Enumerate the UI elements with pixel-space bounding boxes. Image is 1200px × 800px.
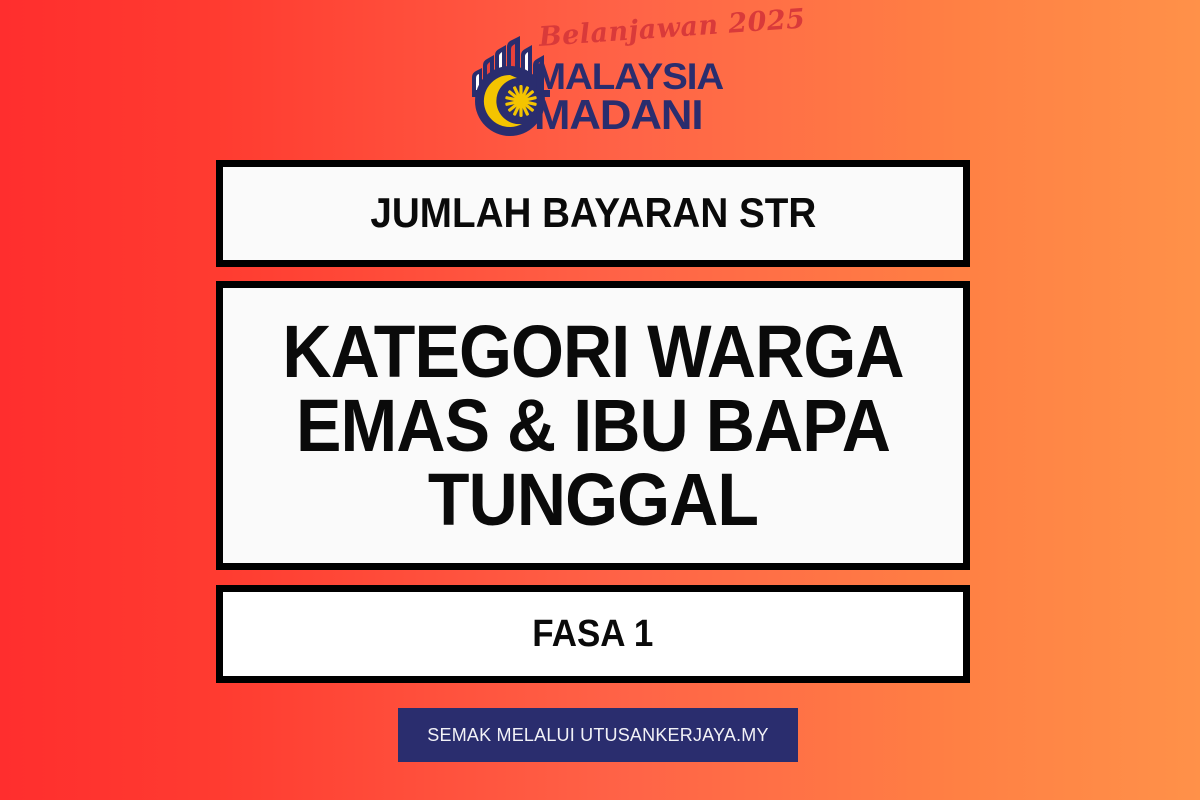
category-label: KATEGORI WARGA EMAS & IBU BAPA TUNGGAL xyxy=(253,315,934,537)
total-payment-box: JUMLAH BAYARAN STR xyxy=(216,160,970,267)
check-source-banner[interactable]: SEMAK MELALUI UTUSANKERJAYA.MY xyxy=(398,708,798,762)
logo-wordmark: Belanjawan 2025 MALAYSIA MADANI xyxy=(534,20,746,140)
phase-box: FASA 1 xyxy=(216,585,970,683)
poster-canvas: Belanjawan 2025 MALAYSIA MADANI JUMLAH B… xyxy=(0,0,1200,800)
brand-malaysia: MALAYSIA xyxy=(534,58,723,95)
malaysia-madani-logo: Belanjawan 2025 MALAYSIA MADANI xyxy=(466,20,746,140)
phase-label: FASA 1 xyxy=(520,615,667,654)
brand-madani: MADANI xyxy=(534,94,702,136)
budget-year-script: Belanjawan 2025 xyxy=(538,3,807,53)
total-payment-label: JUMLAH BAYARAN STR xyxy=(357,192,829,235)
category-box: KATEGORI WARGA EMAS & IBU BAPA TUNGGAL xyxy=(216,281,970,570)
check-source-label: SEMAK MELALUI UTUSANKERJAYA.MY xyxy=(427,725,768,746)
